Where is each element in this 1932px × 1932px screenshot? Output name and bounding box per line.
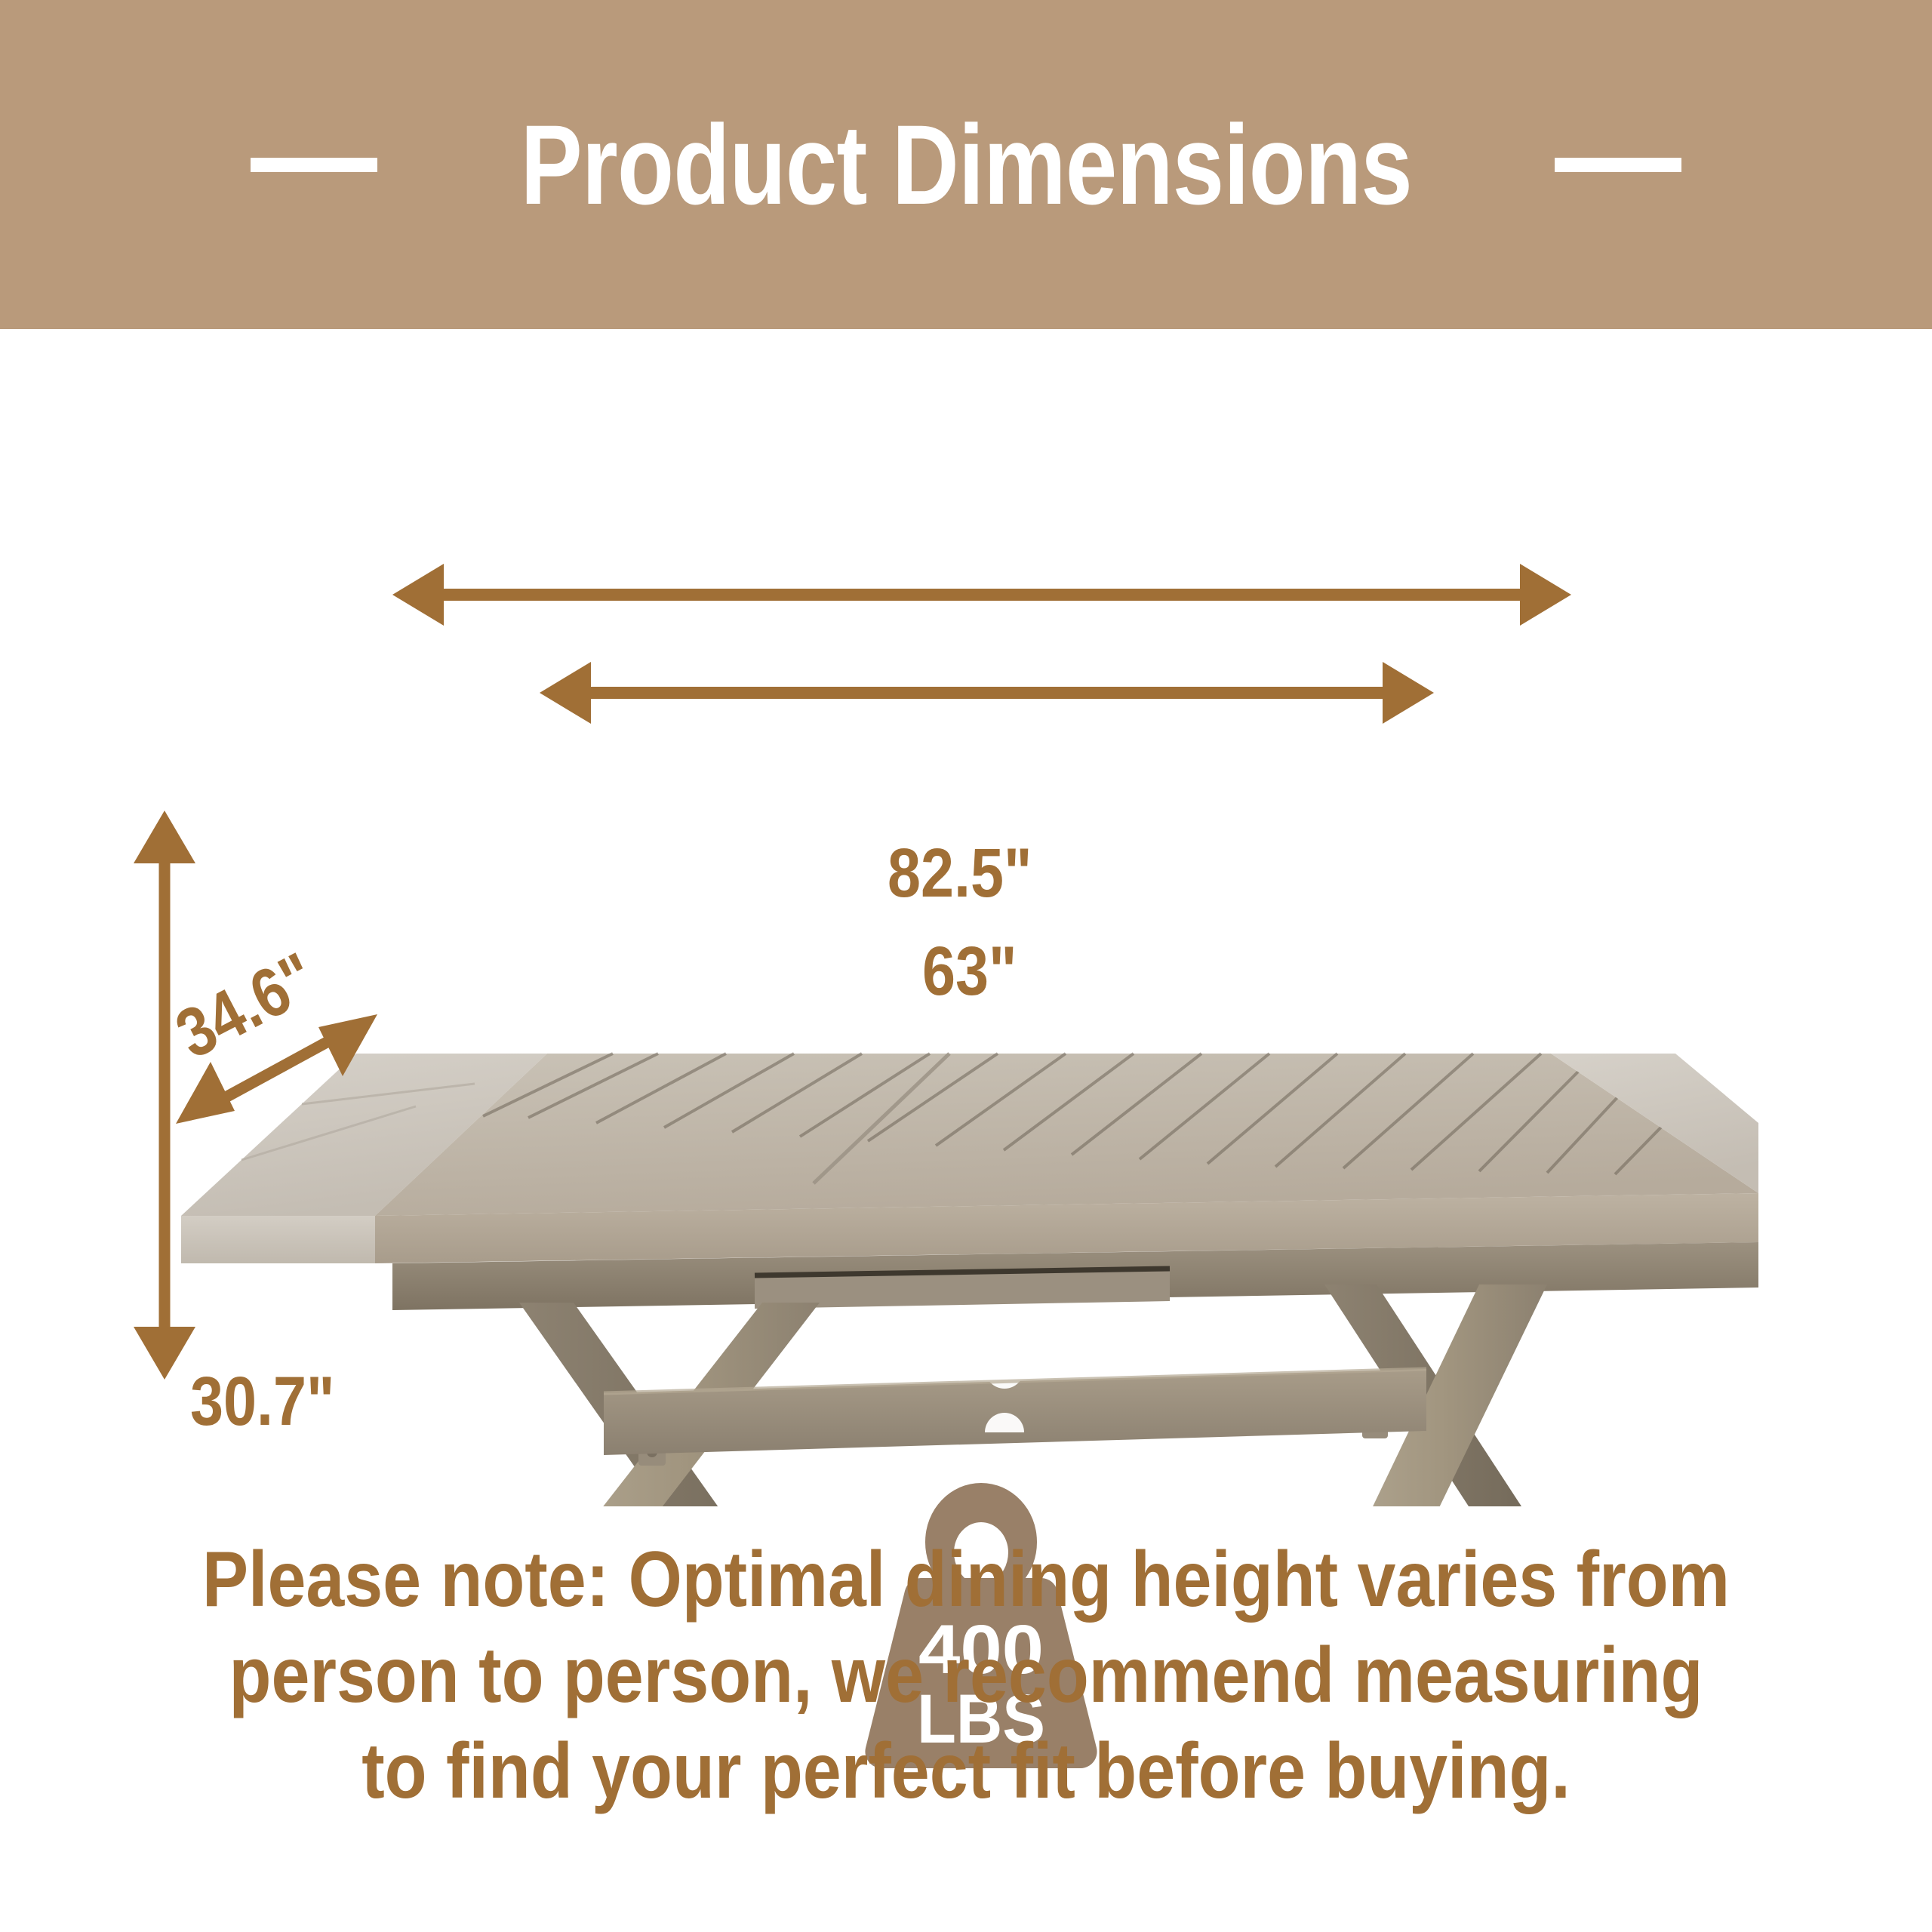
dimension-label-width-total: 82.5" (888, 838, 1032, 908)
arrow-width-total (392, 564, 1571, 626)
page-title: Product Dimensions (520, 108, 1411, 221)
title-dash-left (251, 158, 377, 172)
table-top-main (375, 1054, 1758, 1263)
dimension-label-width-inner: 63" (922, 937, 1017, 1006)
footer-note: Please note: Optimal dining height varie… (0, 1532, 1932, 1820)
product-illustration: 82.5" 63" 34.6" 30.7" 400 LBS (0, 329, 1932, 1506)
arrow-height (134, 811, 195, 1380)
title-dash-right (1555, 158, 1681, 172)
footer-note-line-2: person to person, we recommend measuring (116, 1628, 1817, 1724)
dimension-label-height: 30.7" (190, 1367, 335, 1436)
footer-note-line-3: to find your perfect fit before buying. (116, 1724, 1817, 1820)
footer-note-line-1: Please note: Optimal dining height varie… (116, 1532, 1817, 1628)
header-banner: Product Dimensions (0, 0, 1932, 329)
arrow-width-inner (540, 662, 1434, 724)
table-illustration (181, 1054, 1758, 1506)
